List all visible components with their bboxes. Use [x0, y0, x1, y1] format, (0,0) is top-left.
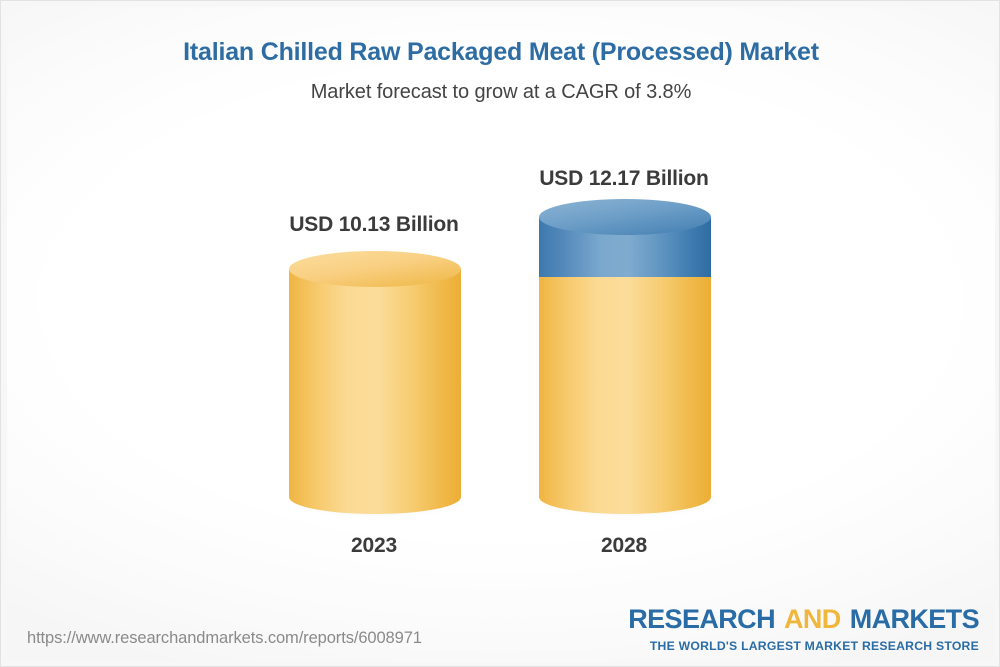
page-subtitle: Market forecast to grow at a CAGR of 3.8…	[1, 81, 1000, 104]
cylinder-top-2023	[289, 251, 461, 287]
logo-word-markets: MARKETS	[850, 604, 979, 634]
chart-header: Italian Chilled Raw Packaged Meat (Proce…	[1, 37, 1000, 104]
chart-footer: https://www.researchandmarkets.com/repor…	[1, 604, 1000, 666]
logo-tagline: THE WORLD'S LARGEST MARKET RESEARCH STOR…	[628, 640, 979, 652]
logo-word-and: AND	[784, 604, 841, 634]
cylinder-top-2028	[539, 199, 711, 235]
chart-page: Italian Chilled Raw Packaged Meat (Proce…	[0, 0, 1000, 667]
cylinder-body-2023	[289, 269, 461, 514]
bar-value-label-2023: USD 10.13 Billion	[224, 213, 524, 237]
report-url-link[interactable]: https://www.researchandmarkets.com/repor…	[27, 629, 422, 648]
cylinder-bar-2023[interactable]	[287, 251, 463, 519]
bar-category-label-2028: 2028	[474, 534, 774, 558]
bar-value-label-2028: USD 12.17 Billion	[474, 167, 774, 191]
page-title: Italian Chilled Raw Packaged Meat (Proce…	[1, 37, 1000, 67]
logo-wordmark: RESEARCHANDMARKETS	[628, 606, 979, 633]
cylinder-bar-2028[interactable]	[537, 199, 713, 519]
logo-word-research: RESEARCH	[628, 604, 775, 634]
research-and-markets-logo[interactable]: RESEARCHANDMARKETS THE WORLD'S LARGEST M…	[628, 606, 979, 652]
